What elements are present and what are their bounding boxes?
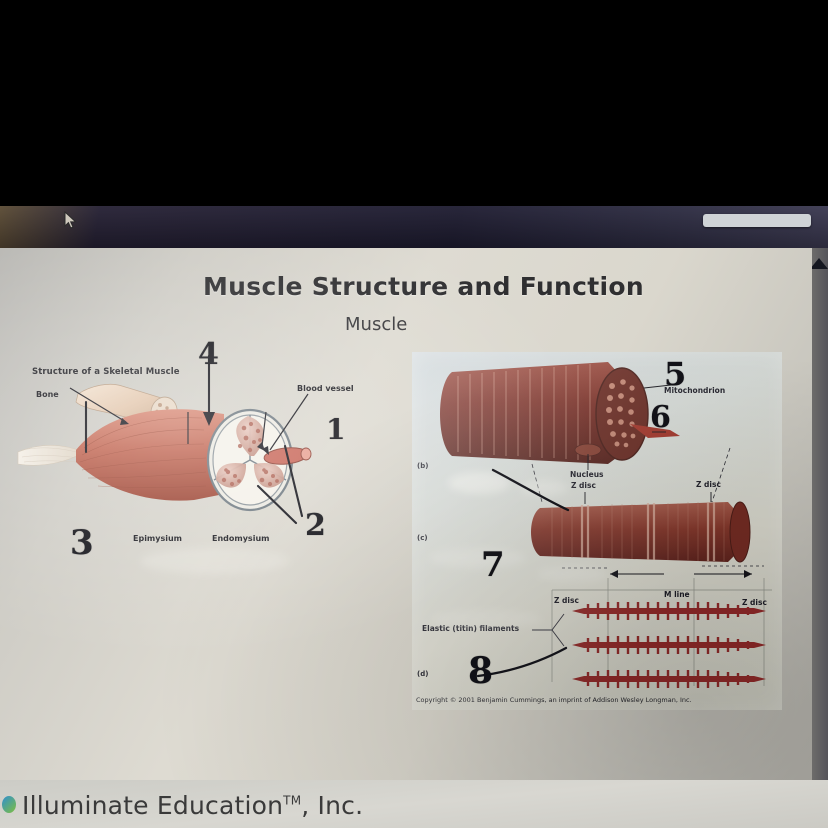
brand-logo [2, 796, 16, 813]
app-bar-button[interactable] [703, 214, 811, 227]
annotation-7: 7 [481, 548, 505, 582]
handwritten-leader-lines-right [0, 248, 812, 780]
annotation-6: 6 [650, 403, 671, 433]
screenshot-stage: Muscle Structure and Function Muscle [0, 0, 828, 828]
footer-brand-name: Illuminate Education [22, 791, 283, 820]
mouse-pointer-icon [64, 211, 77, 230]
annotation-8: 8 [468, 653, 493, 689]
footer-brand: Illuminate EducationTM, Inc. [22, 791, 363, 820]
app-bar-glare [0, 206, 828, 251]
trademark-symbol: TM [283, 794, 301, 808]
annotation-5: 5 [664, 358, 686, 390]
device-bezel [0, 0, 828, 206]
footer-brand-suffix: , Inc. [301, 791, 363, 820]
worksheet-page: Muscle Structure and Function Muscle [0, 248, 812, 780]
triangle-up-icon[interactable] [810, 258, 828, 269]
